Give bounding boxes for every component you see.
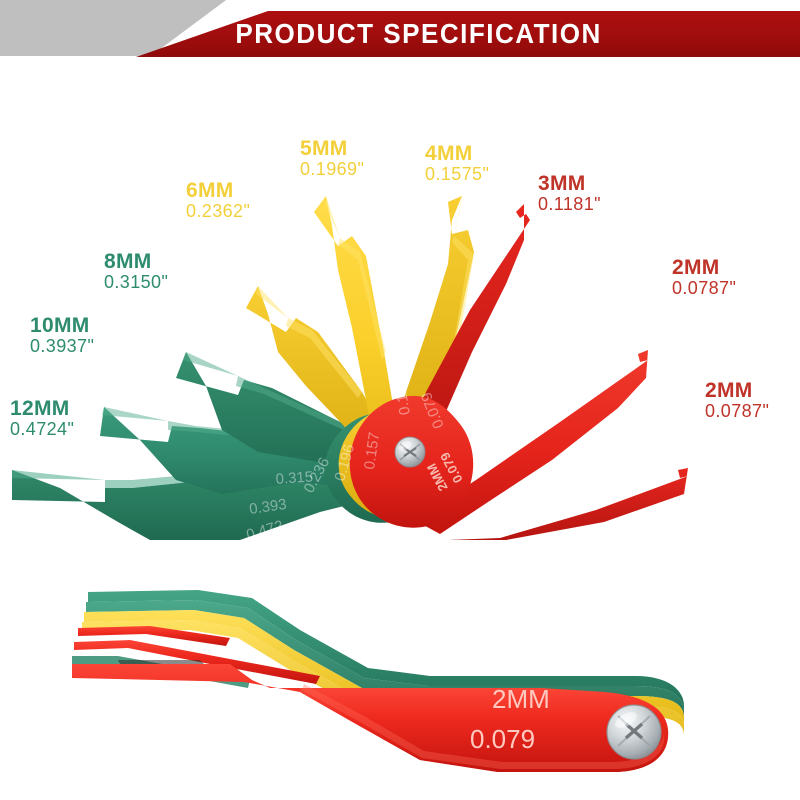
callout-8mm-mm: 8MM (104, 251, 168, 272)
folded-gauge-svg: 2MM 0.079 (0, 560, 800, 800)
folded-tip-gap (118, 660, 204, 664)
callout-4mm: 4MM 0.1575" (425, 143, 489, 184)
callout-2mm-upper: 2MM 0.0787" (672, 257, 736, 298)
callout-10mm: 10MM 0.3937" (30, 315, 94, 356)
callout-2mm-lower-mm: 2MM (705, 380, 769, 401)
callout-6mm: 6MM 0.2362" (186, 180, 250, 221)
callout-8mm: 8MM 0.3150" (104, 251, 168, 292)
callout-2mm-lower: 2MM 0.0787" (705, 380, 769, 421)
folded-stamp-mm: 2MM (492, 684, 550, 714)
callout-12mm: 12MM 0.4724" (10, 398, 74, 439)
callout-2mm-upper-inch: 0.0787" (672, 279, 736, 297)
fanned-gauge-illustration: 2MM 0.079 0.472 0.393 0.315 0.236 0.196 … (0, 70, 800, 540)
callout-4mm-inch: 0.1575" (425, 165, 489, 183)
callout-3mm-inch: 0.1181" (538, 195, 601, 213)
callout-8mm-inch: 0.3150" (104, 273, 168, 291)
fanned-gauge-svg: 2MM 0.079 0.472 0.393 0.315 0.236 0.196 … (0, 70, 800, 540)
product-specification-page: PRODUCT SPECIFICATION (0, 0, 800, 800)
callout-2mm-lower-inch: 0.0787" (705, 402, 769, 420)
header-banner: PRODUCT SPECIFICATION (0, 0, 800, 62)
callout-5mm: 5MM 0.1969" (300, 138, 364, 179)
folded-stamp-inch: 0.079 (470, 724, 535, 754)
callout-3mm-mm: 3MM (538, 173, 601, 194)
page-title: PRODUCT SPECIFICATION (28, 11, 772, 57)
callout-10mm-inch: 0.3937" (30, 337, 94, 355)
callout-12mm-mm: 12MM (10, 398, 74, 419)
callout-12mm-inch: 0.4724" (10, 420, 74, 438)
callout-5mm-inch: 0.1969" (300, 160, 364, 178)
callout-4mm-mm: 4MM (425, 143, 489, 164)
folded-gauge-illustration: 2MM 0.079 (0, 560, 800, 800)
callout-10mm-mm: 10MM (30, 315, 94, 336)
callout-5mm-mm: 5MM (300, 138, 364, 159)
callout-2mm-upper-mm: 2MM (672, 257, 736, 278)
folded-pivot-screw-icon (607, 705, 661, 759)
callout-6mm-inch: 0.2362" (186, 202, 250, 220)
callout-3mm: 3MM 0.1181" (538, 173, 601, 214)
callout-6mm-mm: 6MM (186, 180, 250, 201)
